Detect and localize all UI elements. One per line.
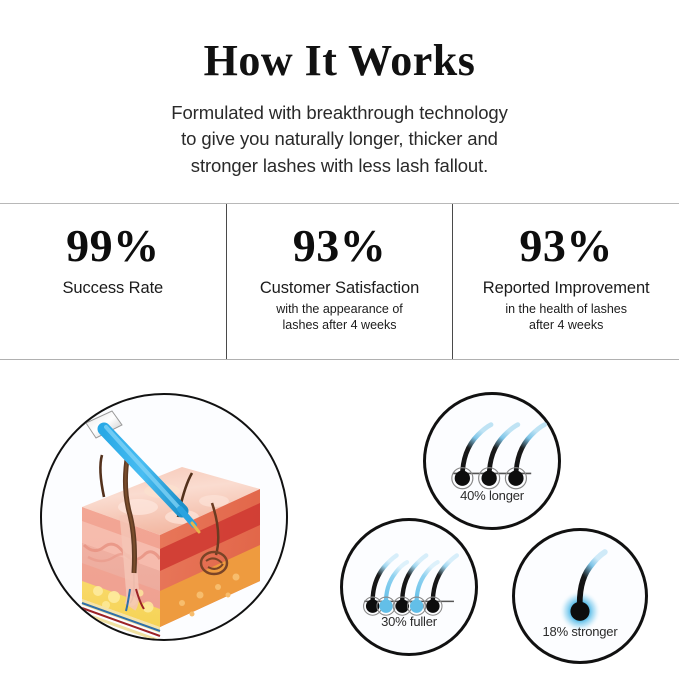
stat-sublabel-line: lashes after 4 weeks — [276, 317, 402, 333]
subtitle-line-2: to give you naturally longer, thicker an… — [0, 126, 679, 152]
fact-label-longer: 40% longer — [426, 488, 558, 503]
page-subtitle: Formulated with breakthrough technology … — [0, 100, 679, 179]
five-hair-follicles-icon — [343, 521, 475, 653]
fact-circle-stronger: 18% stronger — [512, 528, 648, 664]
stat-cell-reported-improvement: 93% Reported Improvement in the health o… — [452, 204, 679, 359]
stat-value: 99% — [66, 222, 160, 270]
single-strong-hair-icon — [515, 531, 645, 661]
header: How It Works Formulated with breakthroug… — [0, 0, 679, 179]
stat-sublabel: in the health of lashes after 4 weeks — [505, 301, 627, 333]
stat-label: Customer Satisfaction — [260, 279, 419, 298]
stats-row: 99% Success Rate 93% Customer Satisfacti… — [0, 203, 679, 360]
fact-label-stronger: 18% stronger — [515, 624, 645, 639]
how-it-works-infographic: How It Works Formulated with breakthroug… — [0, 0, 679, 679]
page-title: How It Works — [0, 38, 679, 84]
stat-sublabel-line: after 4 weeks — [505, 317, 627, 333]
stat-sublabel-line: in the health of lashes — [505, 301, 627, 317]
skin-cross-section-icon — [42, 395, 288, 641]
stat-cell-customer-satisfaction: 93% Customer Satisfaction with the appea… — [226, 204, 453, 359]
skin-diagram-circle — [40, 393, 288, 641]
stat-label: Reported Improvement — [483, 279, 650, 298]
illustration-area: 40% longer — [0, 360, 679, 679]
stat-value: 93% — [519, 222, 613, 270]
stat-value: 93% — [293, 222, 387, 270]
fact-circle-longer: 40% longer — [423, 392, 561, 530]
stat-cell-success-rate: 99% Success Rate — [0, 204, 226, 359]
stat-sublabel: with the appearance of lashes after 4 we… — [276, 301, 402, 333]
stat-sublabel-line: with the appearance of — [276, 301, 402, 317]
three-hair-follicles-icon — [426, 395, 558, 527]
fact-label-fuller: 30% fuller — [343, 614, 475, 629]
subtitle-line-1: Formulated with breakthrough technology — [0, 100, 679, 126]
fact-circle-fuller: 30% fuller — [340, 518, 478, 656]
stat-label: Success Rate — [63, 279, 164, 298]
subtitle-line-3: stronger lashes with less lash fallout. — [0, 153, 679, 179]
